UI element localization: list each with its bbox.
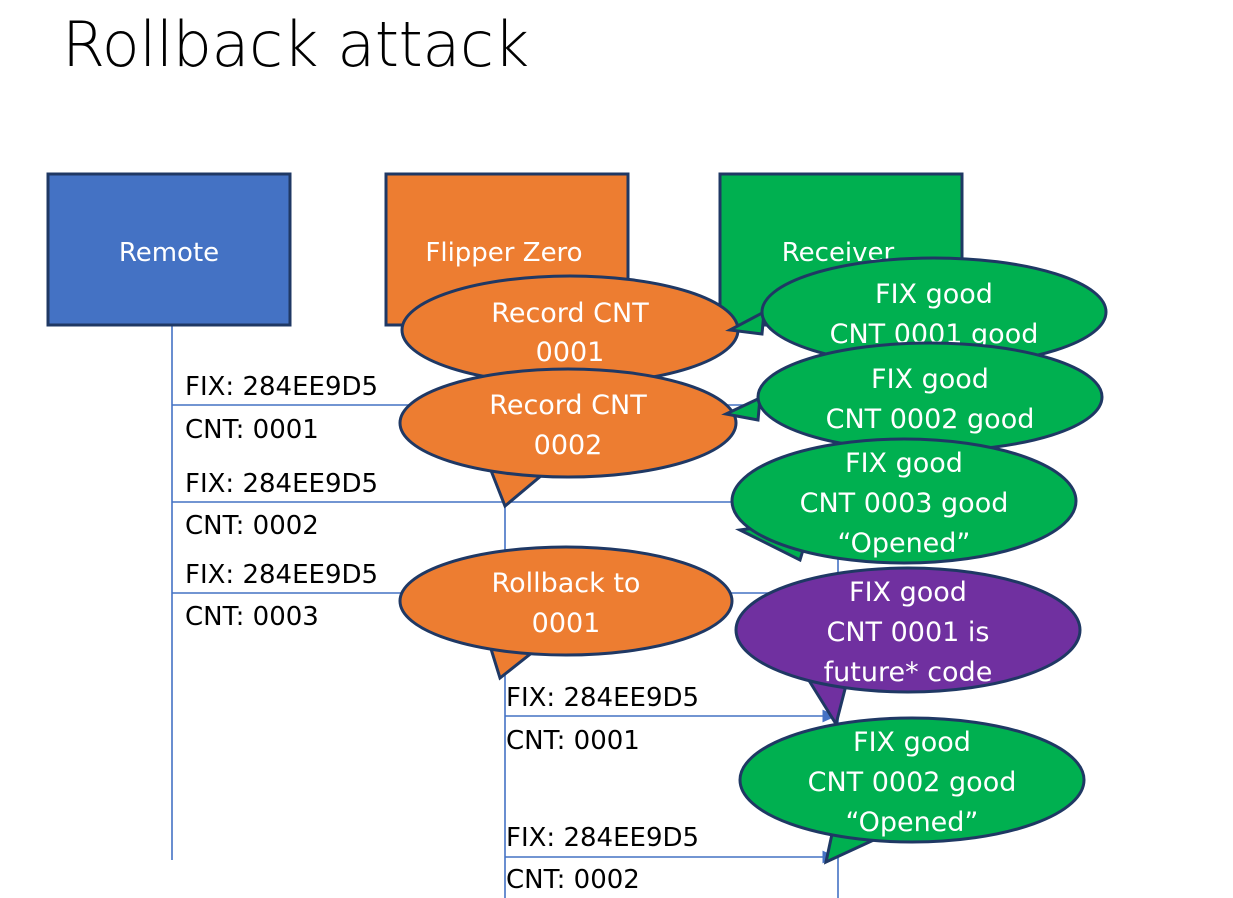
slide-canvas: Rollback attack Remote Flipper Zero Re <box>0 0 1233 898</box>
receiver-bubble-3-line2: CNT 0003 good <box>800 488 1009 519</box>
flipper-bubble-record-0002[interactable]: Record CNT 0002 <box>400 369 736 506</box>
message-label-5: FIX: 284EE9D5 CNT: 0002 <box>506 823 699 895</box>
message-1-fix: FIX: 284EE9D5 <box>185 372 378 402</box>
receiver-bubble-future-code-alert[interactable]: FIX good CNT 0001 is future* code <box>736 568 1080 724</box>
receiver-bubble-4-line1: FIX good <box>849 577 967 608</box>
receiver-bubble-2-line1: FIX good <box>871 364 989 395</box>
receiver-bubble-cnt-0002-opened[interactable]: FIX good CNT 0002 good “Opened” <box>740 718 1084 862</box>
actor-label-remote: Remote <box>119 238 219 268</box>
message-4-cnt: CNT: 0001 <box>506 726 640 756</box>
actor-label-flipper: Flipper Zero <box>425 238 582 268</box>
message-5-cnt: CNT: 0002 <box>506 865 640 895</box>
receiver-bubble-4-line2: CNT 0001 is <box>827 617 990 648</box>
message-3-fix: FIX: 284EE9D5 <box>185 560 378 590</box>
receiver-bubble-5-line1: FIX good <box>853 727 971 758</box>
receiver-bubble-3-line1: FIX good <box>845 448 963 479</box>
message-3-cnt: CNT: 0003 <box>185 602 319 632</box>
receiver-bubble-5-line3: “Opened” <box>846 807 979 838</box>
receiver-bubble-4-line3: future* code <box>824 657 993 688</box>
receiver-bubble-cnt-0003-opened[interactable]: FIX good CNT 0003 good “Opened” <box>732 439 1076 563</box>
message-label-3: FIX: 284EE9D5 CNT: 0003 <box>185 560 378 632</box>
receiver-bubble-2-line2: CNT 0002 good <box>826 404 1035 435</box>
message-4-fix: FIX: 284EE9D5 <box>506 683 699 713</box>
message-5-fix: FIX: 284EE9D5 <box>506 823 699 853</box>
message-label-2: FIX: 284EE9D5 CNT: 0002 <box>185 469 378 541</box>
message-2-cnt: CNT: 0002 <box>185 511 319 541</box>
receiver-bubble-1-line1: FIX good <box>875 279 993 310</box>
receiver-bubble-3-line3: “Opened” <box>838 528 971 559</box>
message-label-1: FIX: 284EE9D5 CNT: 0001 <box>185 372 378 445</box>
message-label-4: FIX: 284EE9D5 CNT: 0001 <box>506 683 699 756</box>
flipper-bubble-rollback-0001[interactable]: Rollback to 0001 <box>400 547 732 678</box>
flipper-bubble-1-line1: Record CNT <box>491 298 649 329</box>
receiver-bubble-5-line2: CNT 0002 good <box>808 767 1017 798</box>
message-1-cnt: CNT: 0001 <box>185 415 319 445</box>
message-2-fix: FIX: 284EE9D5 <box>185 469 378 499</box>
flipper-bubble-3-line1: Rollback to <box>492 568 641 599</box>
actor-box-remote[interactable]: Remote <box>48 174 290 325</box>
flipper-bubble-3-line2: 0001 <box>532 608 601 639</box>
flipper-bubble-1-line2: 0001 <box>536 337 605 368</box>
flipper-bubble-2-line2: 0002 <box>534 430 603 461</box>
flipper-bubble-2-line1: Record CNT <box>489 390 647 421</box>
receiver-bubble-cnt-0002-good[interactable]: FIX good CNT 0002 good <box>726 343 1102 451</box>
sequence-diagram: Remote Flipper Zero Receiver FIX: 284EE9… <box>0 0 1233 898</box>
